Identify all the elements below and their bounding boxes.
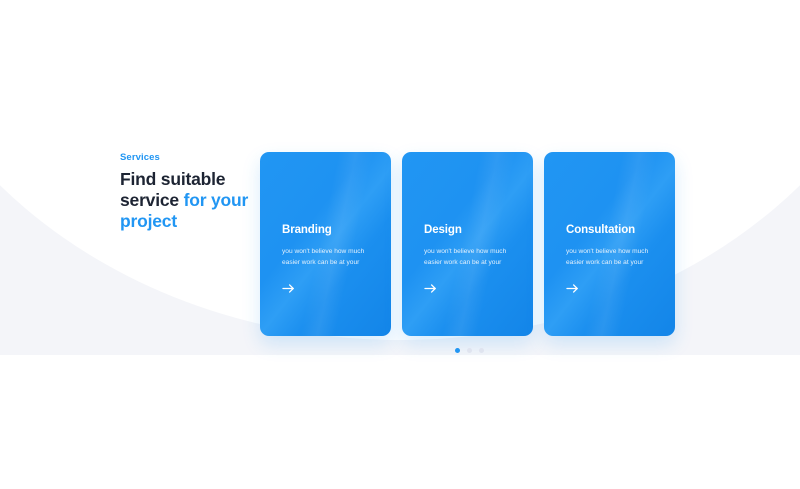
- pagination-dot-1[interactable]: [455, 348, 460, 353]
- section-text-column: Services Find suitable service for your …: [120, 151, 250, 232]
- card-title: Consultation: [566, 224, 635, 236]
- card-content: Design you won't believe how much easier…: [424, 152, 511, 336]
- card-content: Consultation you won't believe how much …: [566, 152, 653, 336]
- pagination-dot-2[interactable]: [467, 348, 472, 353]
- card-content: Branding you won't believe how much easi…: [282, 152, 369, 336]
- arrow-right-icon[interactable]: [424, 280, 440, 296]
- card-description: you won't believe how much easier work c…: [566, 247, 658, 268]
- card-description: you won't believe how much easier work c…: [282, 247, 374, 268]
- card-description: you won't believe how much easier work c…: [424, 247, 516, 268]
- service-card-design[interactable]: Design you won't believe how much easier…: [402, 152, 533, 336]
- arrow-right-icon[interactable]: [282, 280, 298, 296]
- pagination-dot-3[interactable]: [479, 348, 484, 353]
- carousel-pagination: [455, 348, 484, 353]
- service-card-consultation[interactable]: Consultation you won't believe how much …: [544, 152, 675, 336]
- page-title: Find suitable service for your project: [120, 169, 250, 232]
- card-title: Design: [424, 224, 462, 236]
- background-lower-white: [0, 355, 800, 489]
- service-card-list: Branding you won't believe how much easi…: [260, 152, 675, 336]
- services-section: Services Find suitable service for your …: [0, 0, 800, 489]
- arrow-right-icon[interactable]: [566, 280, 582, 296]
- section-eyebrow-label: Services: [120, 151, 250, 164]
- service-card-branding[interactable]: Branding you won't believe how much easi…: [260, 152, 391, 336]
- card-title: Branding: [282, 224, 332, 236]
